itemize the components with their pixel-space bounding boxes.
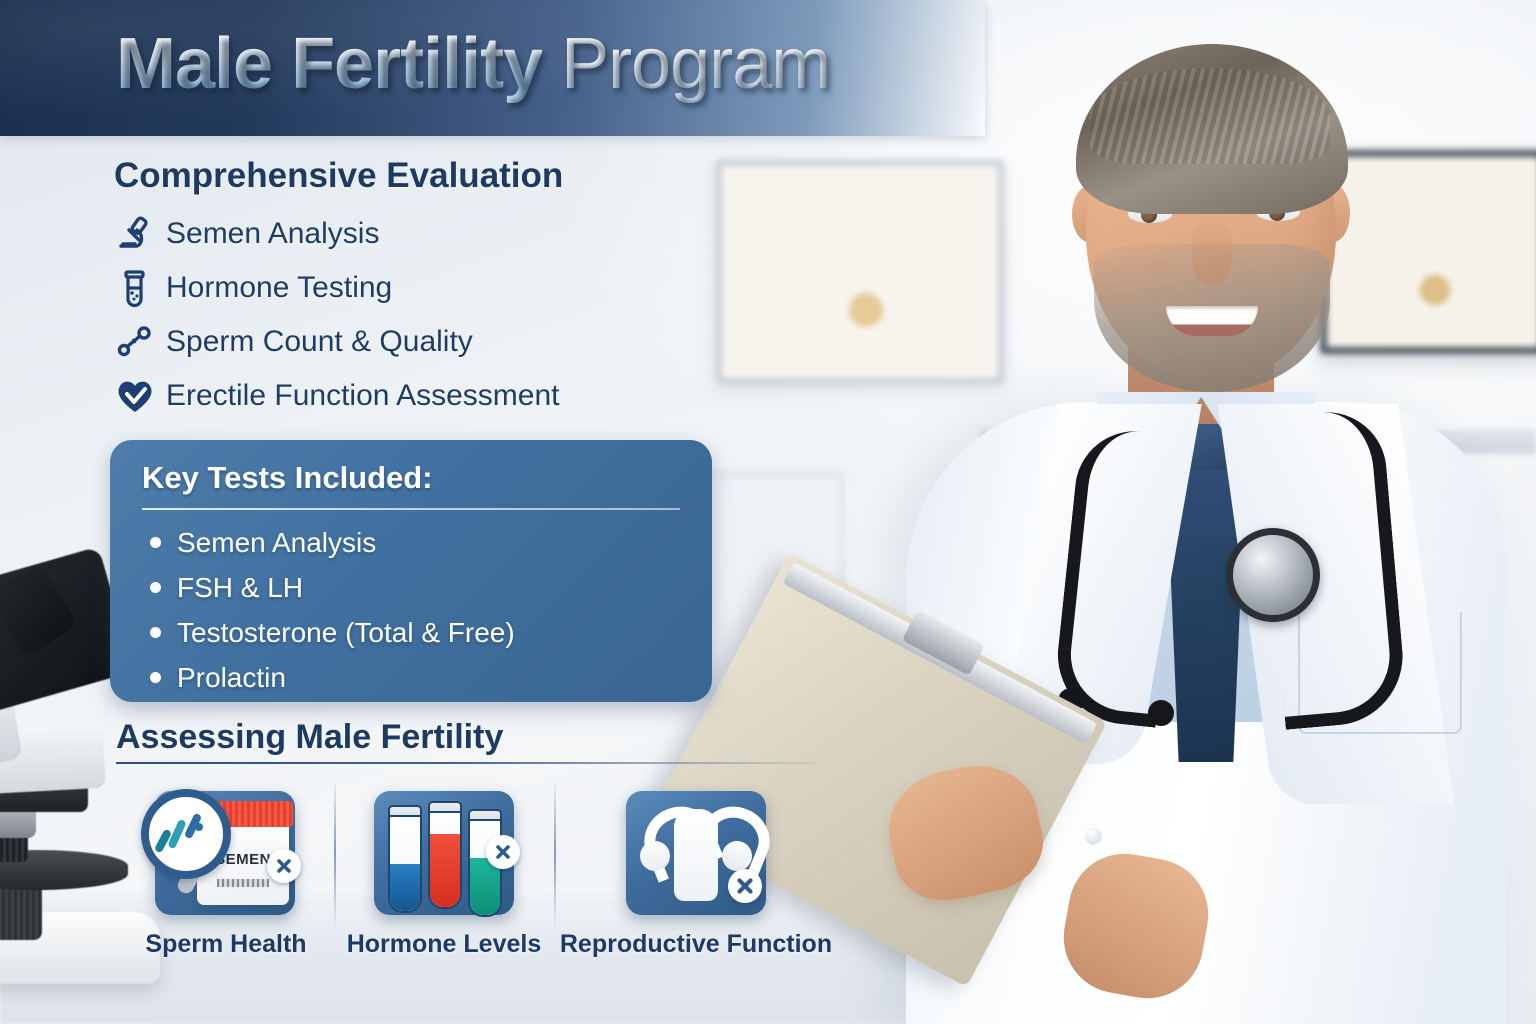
tile-reproductive-function	[556, 778, 838, 928]
bullet-dot	[150, 537, 161, 548]
close-icon	[486, 835, 520, 869]
tile-sperm-health: SEMEN	[118, 778, 334, 928]
evaluation-item-sperm-count: Sperm Count & Quality	[104, 316, 664, 368]
evaluation-item-label: Hormone Testing	[166, 271, 392, 305]
sperm-chain-icon	[104, 322, 166, 362]
assessing-tiles: SEMEN	[118, 778, 838, 928]
magnifier-lens	[141, 789, 231, 879]
close-icon	[728, 869, 762, 903]
heart-check-icon	[104, 375, 166, 417]
key-test-label: Semen Analysis	[177, 527, 376, 559]
bullet-dot	[150, 672, 161, 683]
assessing-heading: Assessing Male Fertility	[116, 718, 503, 757]
evaluation-heading: Comprehensive Evaluation	[114, 156, 563, 196]
list-item: Prolactin	[140, 655, 515, 700]
key-test-label: FSH & LH	[177, 572, 303, 604]
tile-label-reproductive-function: Reproductive Function	[554, 930, 838, 959]
semen-cup-magnifier-icon: SEMEN	[141, 787, 311, 919]
evaluation-item-label: Sperm Count & Quality	[166, 325, 473, 359]
test-tube-icon	[104, 268, 166, 308]
key-tests-heading: Key Tests Included:	[142, 460, 433, 496]
page-title: Male Fertility Program	[116, 28, 830, 100]
tile-hormone-levels	[336, 778, 554, 928]
list-item: Semen Analysis	[140, 520, 515, 565]
title-bold: Male Fertility	[116, 24, 542, 104]
test-tubes-icon	[360, 787, 530, 919]
evaluation-item-erectile-function: Erectile Function Assessment	[104, 370, 664, 422]
list-item: Testosterone (Total & Free)	[140, 610, 515, 655]
key-tests-divider	[142, 508, 680, 510]
cup-barcode	[217, 879, 269, 887]
evaluation-item-label: Semen Analysis	[166, 217, 379, 251]
list-item: FSH & LH	[140, 565, 515, 610]
close-icon	[267, 849, 301, 883]
tile-label-hormone-levels: Hormone Levels	[334, 930, 554, 959]
key-tests-card: Key Tests Included: Semen Analysis FSH &…	[110, 440, 712, 702]
test-tube-red	[428, 801, 462, 909]
evaluation-item-label: Erectile Function Assessment	[166, 379, 560, 413]
key-test-label: Testosterone (Total & Free)	[177, 617, 515, 649]
reproductive-anatomy-icon	[612, 787, 782, 919]
bullet-dot	[150, 582, 161, 593]
key-test-label: Prolactin	[177, 662, 286, 694]
infographic-canvas: Male Fertility Program Comprehensive Eva…	[0, 0, 1536, 1024]
test-tube-blue	[388, 805, 422, 913]
microscope-icon	[104, 214, 166, 254]
key-tests-list: Semen Analysis FSH & LH Testosterone (To…	[140, 520, 515, 700]
evaluation-item-semen-analysis: Semen Analysis	[104, 208, 664, 260]
title-light: Program	[561, 24, 830, 104]
evaluation-list: Semen Analysis Hormone Testing Sperm Cou…	[104, 208, 664, 424]
header-banner: Male Fertility Program	[0, 0, 985, 136]
tile-label-sperm-health: Sperm Health	[118, 930, 334, 959]
assessing-divider	[116, 762, 816, 764]
doctor-photo	[880, 0, 1536, 1024]
assessing-tile-labels: Sperm Health Hormone Levels Reproductive…	[118, 930, 838, 959]
evaluation-item-hormone-testing: Hormone Testing	[104, 262, 664, 314]
bullet-dot	[150, 627, 161, 638]
